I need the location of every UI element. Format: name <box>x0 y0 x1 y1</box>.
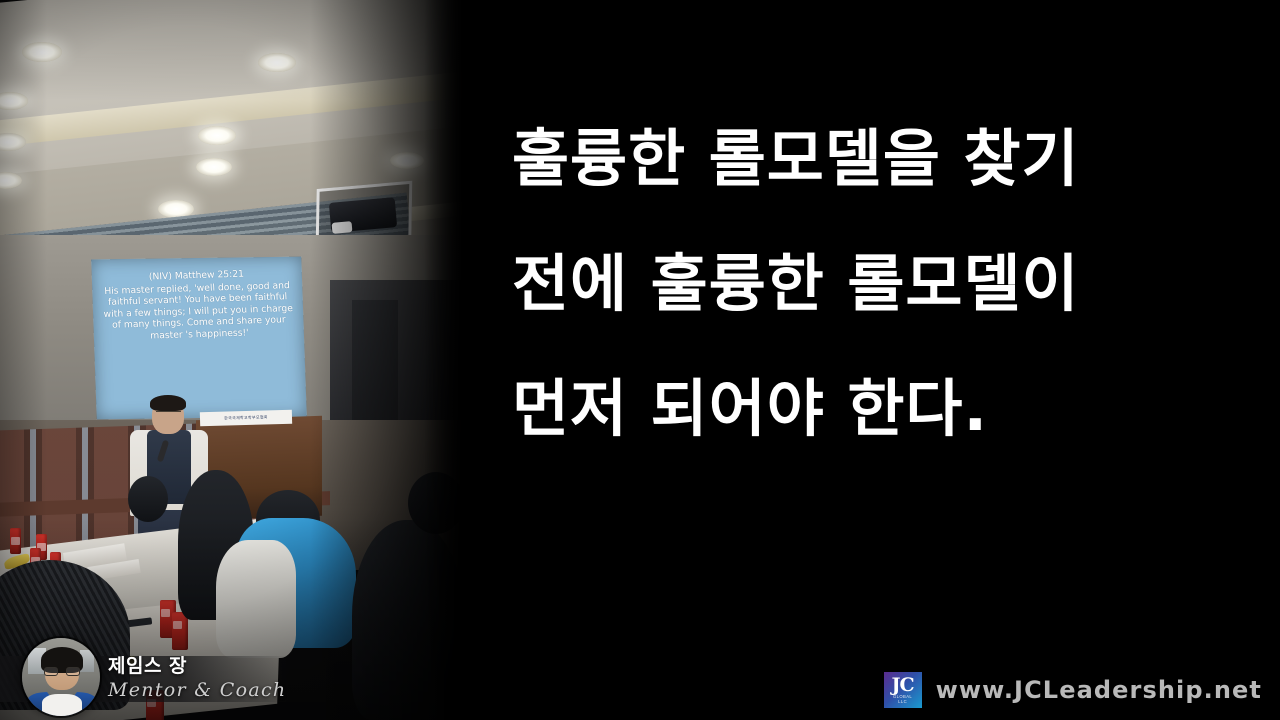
logo-initials: JC <box>892 676 914 694</box>
photo-scene: (NIV) Matthew 25:21His master replied, '… <box>0 0 470 720</box>
ceiling-downlight <box>196 158 232 176</box>
website-url: www.JCLeadership.net <box>936 676 1262 704</box>
audience-member-white-coat <box>216 540 296 658</box>
speaker-hair <box>150 395 186 411</box>
slide-root: (NIV) Matthew 25:21His master replied, '… <box>0 0 1280 720</box>
brand-footer: JC GLOBAL LLC www.JCLeadership.net <box>884 672 1262 708</box>
logo-subtitle-llc: LLC <box>898 699 907 704</box>
avatar-glasses-icon <box>44 667 80 676</box>
scripture-body: His master replied, 'well done, good and… <box>103 280 293 342</box>
presenter-avatar <box>22 638 100 716</box>
podium-sign: 한국국제학교학부모협회 <box>200 410 292 426</box>
projection-screen-text: (NIV) Matthew 25:21His master replied, '… <box>91 257 305 344</box>
ceiling-downlight <box>390 152 424 169</box>
avatar-shirt <box>42 694 82 716</box>
lecture-hall-photo: (NIV) Matthew 25:21His master replied, '… <box>0 0 470 720</box>
ceiling-downlight <box>258 53 296 72</box>
jc-global-logo: JC GLOBAL LLC <box>884 672 922 708</box>
speaker-glasses-icon <box>156 411 181 416</box>
headline-line-3: 먼저 되어야 한다. <box>512 346 1242 471</box>
presenter-role: Mentor & Coach <box>108 681 286 700</box>
ceiling-downlight <box>198 126 236 145</box>
presenter-name: 제임스 장 <box>108 657 286 676</box>
presenter-text-block: 제임스 장 Mentor & Coach <box>108 657 286 700</box>
ceiling-downlight <box>22 42 62 62</box>
headline-block: 훌륭한 롤모델을 찾기 전에 훌륭한 롤모델이 먼저 되어야 한다. <box>512 96 1242 471</box>
audience-member <box>408 472 464 534</box>
headline-line-2: 전에 훌륭한 롤모델이 <box>512 221 1242 346</box>
audience-member <box>352 520 464 720</box>
headline-line-1: 훌륭한 롤모델을 찾기 <box>512 96 1242 221</box>
projector-lens <box>332 221 353 234</box>
audience-member <box>128 476 168 522</box>
podium-sign-label: 한국국제학교학부모협회 <box>200 410 292 426</box>
projection-screen: (NIV) Matthew 25:21His master replied, '… <box>91 257 307 420</box>
soda-can <box>10 528 21 554</box>
